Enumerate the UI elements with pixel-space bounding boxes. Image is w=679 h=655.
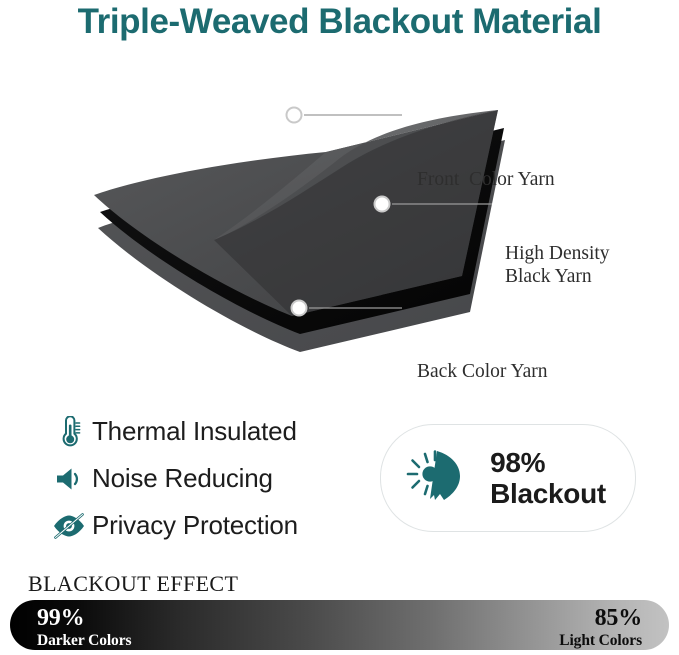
badge-label: Blackout xyxy=(490,478,606,509)
sun-blocked-icon xyxy=(404,445,476,512)
darker-colors-percent: 99% xyxy=(37,606,131,632)
callout-label-high-density-black-yarn: High Density Black Yarn xyxy=(505,242,610,288)
blackout-effect-heading: BLACKOUT EFFECT xyxy=(28,571,238,597)
callout-label-front-color-yarn: Front Color Yarn xyxy=(417,168,555,191)
feature-privacy-protection: Privacy Protection xyxy=(46,502,366,549)
blackout-effect-gradient-bar: 99% Darker Colors 85% Light Colors xyxy=(10,600,669,650)
light-colors-label: Light Colors xyxy=(559,632,642,650)
light-colors-percent: 85% xyxy=(559,606,642,632)
badge-text: 98% Blackout xyxy=(490,447,606,510)
callout-label-back-color-yarn: Back Color Yarn xyxy=(417,360,548,383)
feature-list: Thermal Insulated Noise Reducing Privacy… xyxy=(46,408,366,549)
eye-slash-icon xyxy=(46,512,92,540)
speaker-icon xyxy=(46,465,92,493)
feature-thermal-insulated: Thermal Insulated xyxy=(46,408,366,455)
feature-noise-reducing: Noise Reducing xyxy=(46,455,366,502)
blackout-percentage-badge: 98% Blackout xyxy=(380,424,636,532)
page-title: Triple-Weaved Blackout Material xyxy=(0,2,679,42)
feature-label: Privacy Protection xyxy=(92,510,298,541)
thermometer-icon xyxy=(46,416,92,448)
badge-percent: 98% xyxy=(490,447,545,478)
fabric-layer-diagram: Front Color Yarn High Density Black Yarn… xyxy=(0,62,679,362)
gradient-bar-left-stat: 99% Darker Colors xyxy=(37,606,131,650)
feature-label: Thermal Insulated xyxy=(92,416,297,447)
darker-colors-label: Darker Colors xyxy=(37,632,131,650)
callout-leader-front xyxy=(287,108,403,123)
gradient-bar-right-stat: 85% Light Colors xyxy=(559,606,642,650)
feature-label: Noise Reducing xyxy=(92,463,273,494)
